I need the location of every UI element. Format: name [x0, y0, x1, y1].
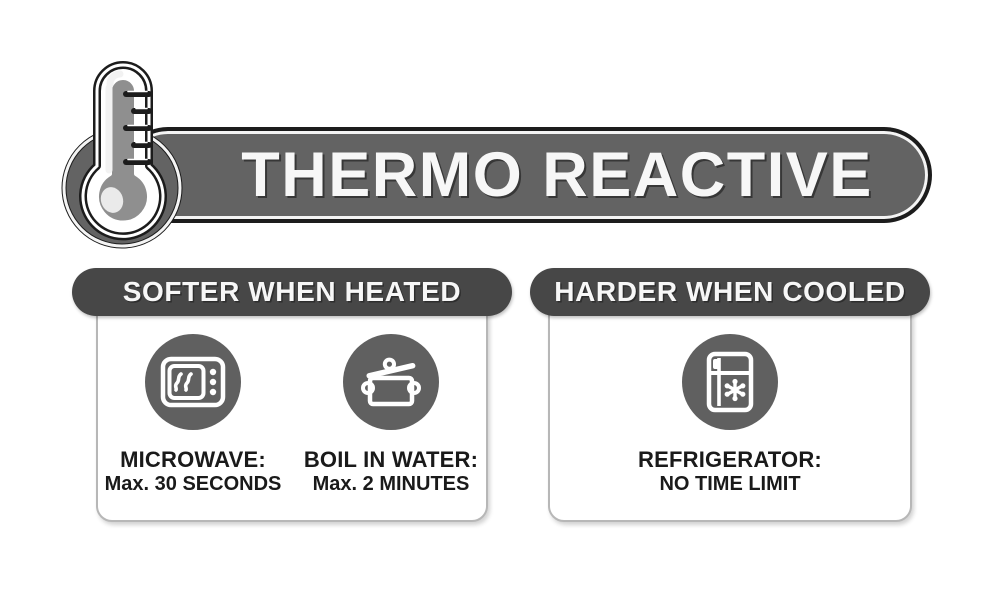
panel-header-label: SOFTER WHEN HEATED	[123, 278, 462, 306]
thermometer-icon	[60, 48, 210, 253]
infographic-root: THERMO REACTIVE	[0, 0, 1000, 607]
item-title: BOIL IN WATER:	[304, 448, 478, 471]
item-caption: BOIL IN WATER: Max. 2 MINUTES	[304, 448, 478, 495]
panel-softer-when-heated: SOFTER WHEN HEATED	[72, 268, 512, 526]
item-refrigerator: REFRIGERATOR: NO TIME LIMIT	[644, 316, 816, 495]
panel-header-label: HARDER WHEN COOLED	[554, 278, 905, 306]
item-caption: REFRIGERATOR: NO TIME LIMIT	[638, 448, 822, 495]
items-row: REFRIGERATOR: NO TIME LIMIT	[530, 316, 930, 526]
item-title: MICROWAVE:	[105, 448, 282, 471]
boiling-pot-icon	[343, 334, 439, 430]
item-boil-in-water: BOIL IN WATER: Max. 2 MINUTES	[305, 316, 477, 495]
banner-group: THERMO REACTIVE	[0, 0, 1000, 265]
item-subtitle: Max. 2 MINUTES	[304, 474, 478, 495]
panel-header-harder-when-cooled: HARDER WHEN COOLED	[530, 268, 930, 316]
item-microwave: MICROWAVE: Max. 30 SECONDS	[107, 316, 279, 495]
item-subtitle: Max. 30 SECONDS	[105, 474, 282, 495]
refrigerator-icon	[682, 334, 778, 430]
panels-row: SOFTER WHEN HEATED	[0, 268, 1000, 538]
banner-bar: THERMO REACTIVE	[120, 127, 932, 223]
panel-harder-when-cooled: HARDER WHEN COOLED	[530, 268, 930, 526]
microwave-icon	[145, 334, 241, 430]
item-title: REFRIGERATOR:	[638, 448, 822, 471]
item-caption: MICROWAVE: Max. 30 SECONDS	[105, 448, 282, 495]
items-row: MICROWAVE: Max. 30 SECONDS	[72, 316, 512, 526]
banner-title: THERMO REACTIVE	[124, 131, 936, 219]
item-subtitle: NO TIME LIMIT	[638, 474, 822, 495]
panel-header-softer-when-heated: SOFTER WHEN HEATED	[72, 268, 512, 316]
